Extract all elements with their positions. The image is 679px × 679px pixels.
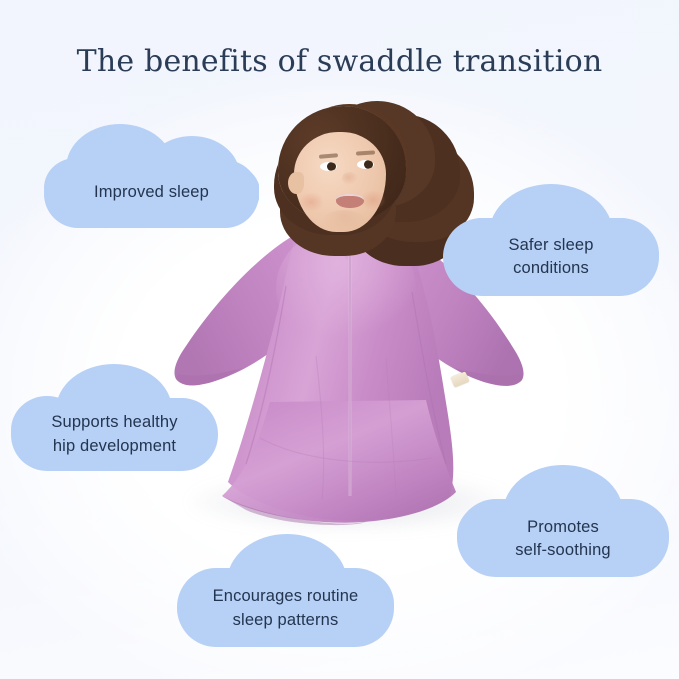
infographic-canvas: The benefits of swaddle transition — [0, 0, 679, 679]
baby-pupil-right — [364, 160, 373, 169]
benefit-cloud-self-soothing: Promotes self-soothing — [457, 457, 669, 577]
baby-nose — [342, 172, 358, 185]
benefit-cloud-hip-development: Supports healthy hip development — [11, 358, 218, 471]
cloud-shape-icon — [44, 122, 259, 228]
page-title: The benefits of swaddle transition — [0, 44, 679, 79]
benefit-cloud-safer-sleep: Safer sleep conditions — [443, 178, 659, 296]
baby-cheek-left — [298, 192, 324, 212]
baby-head — [272, 106, 412, 246]
baby-pupil-left — [327, 162, 336, 171]
baby-mouth — [336, 194, 364, 208]
baby-ear — [288, 172, 304, 194]
cloud-shape-icon — [443, 178, 659, 296]
cloud-shape-icon — [11, 358, 218, 471]
benefit-cloud-sleep-patterns: Encourages routine sleep patterns — [177, 526, 394, 647]
cloud-shape-icon — [457, 457, 669, 577]
cloud-shape-icon — [177, 526, 394, 647]
baby-chin — [322, 210, 366, 232]
baby-eye-right — [357, 160, 374, 169]
baby-eye-left — [320, 162, 337, 171]
benefit-cloud-improved-sleep: Improved sleep — [44, 122, 259, 228]
